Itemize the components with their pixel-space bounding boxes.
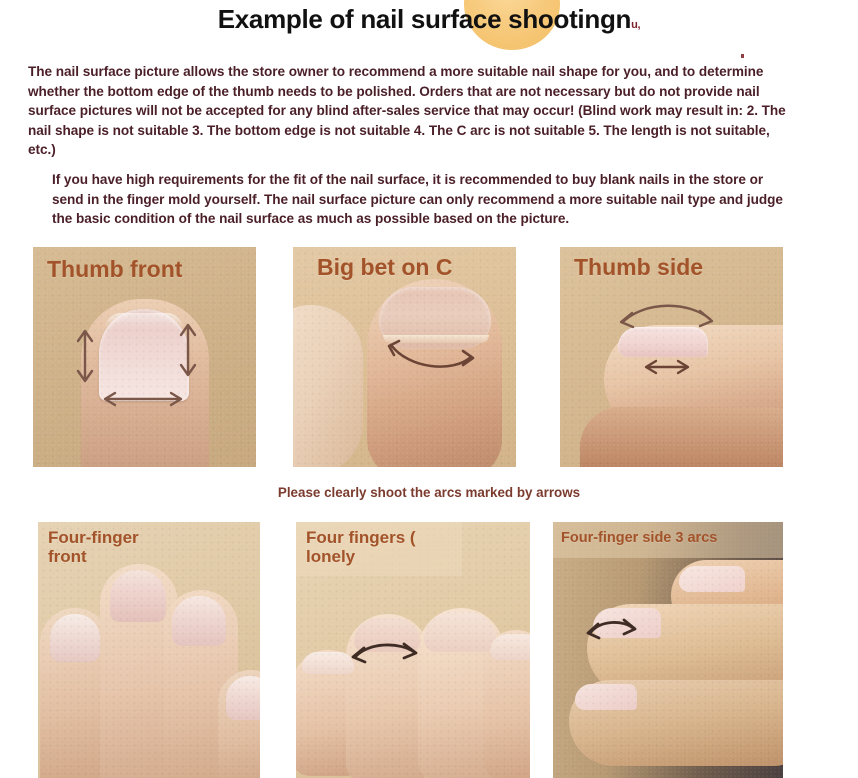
- arrow-vertical-right: [176, 319, 200, 381]
- nail-3: [172, 596, 226, 646]
- secondary-paragraph: If you have high requirements for the fi…: [52, 170, 788, 229]
- page-title-text: Example of nail surface shootingn: [218, 4, 631, 34]
- page-root: Example of nail surface shootingnu, The …: [0, 0, 858, 778]
- photo-label: Four-finger front: [48, 528, 139, 566]
- nail-highlight: [105, 313, 183, 329]
- arrow-horizontal-bottom: [99, 389, 187, 409]
- arrow-c-arc: [581, 616, 643, 644]
- photo-card-four-finger-front[interactable]: Four-finger front: [38, 522, 260, 778]
- page-title: Example of nail surface shootingnu,: [0, 4, 858, 35]
- photo-card-four-fingers-lonely[interactable]: Four fingers ( lonely: [296, 522, 530, 778]
- artifact-speck: [741, 54, 744, 58]
- nail-3: [424, 612, 496, 652]
- arrow-arc-top: [612, 297, 722, 333]
- adjacent-finger-shape: [293, 305, 363, 467]
- photo-card-big-bet-on-c[interactable]: Big bet on C: [293, 247, 516, 467]
- arrow-c-arc: [346, 638, 424, 668]
- nail-1: [50, 614, 100, 662]
- photo-label: Four fingers ( lonely: [306, 528, 416, 566]
- photo-card-thumb-front[interactable]: Thumb front: [33, 247, 256, 467]
- arrow-c-arc: [379, 339, 483, 381]
- arrow-vertical-left: [73, 325, 97, 387]
- arrow-horizontal-lower: [640, 357, 694, 377]
- hand-mass-shape: [580, 407, 783, 467]
- nail-upper: [679, 566, 745, 592]
- photo-label: Four-finger side 3 arcs: [561, 530, 717, 546]
- photo-label: Big bet on C: [317, 255, 452, 281]
- arcs-instruction-caption: Please clearly shoot the arcs marked by …: [0, 485, 858, 500]
- photo-label: Thumb side: [574, 255, 703, 281]
- nail-4: [226, 676, 260, 720]
- nail-lower: [575, 684, 637, 710]
- photo-card-thumb-side[interactable]: Thumb side: [560, 247, 783, 467]
- intro-paragraph: The nail surface picture allows the stor…: [28, 62, 790, 160]
- nail-4: [490, 634, 530, 660]
- nail-2: [110, 570, 166, 622]
- photo-label: Thumb front: [47, 257, 182, 283]
- page-title-suffix: u,: [631, 19, 640, 31]
- photo-card-four-finger-side-3-arcs[interactable]: Four-finger side 3 arcs: [553, 522, 783, 778]
